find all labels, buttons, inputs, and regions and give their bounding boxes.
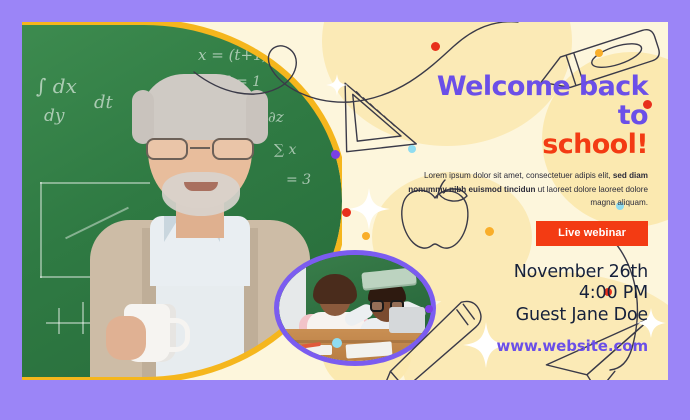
live-webinar-button[interactable]: Live webinar (536, 221, 648, 246)
back-to-school-banner: ∫ dx dy dt x = (t+1) y² = 1 ∂z ∑ x = 3 (0, 0, 690, 420)
event-guest: Guest Jane Doe (400, 305, 648, 327)
chalk-equation-1: ∫ dx (36, 74, 77, 98)
decorative-dot-red (431, 42, 440, 51)
cta-row: Live webinar (400, 221, 648, 246)
event-date: November 26th (400, 262, 648, 284)
event-details: November 26th 4:00 PM Guest Jane Doe (400, 262, 648, 327)
chalk-equation-4: x = (t+1) (198, 46, 268, 64)
decorative-dot-red (342, 208, 351, 217)
sparkle-star-icon (348, 188, 390, 235)
decorative-dot-orange (595, 49, 603, 57)
decorative-dot-orange (362, 232, 370, 240)
body-text-part1: Lorem ipsum dolor sit amet, consectetuer… (424, 171, 613, 180)
body-text: Lorem ipsum dolor sit amet, consectetuer… (400, 169, 648, 208)
teacher-glasses (144, 138, 256, 160)
banner-content: Welcome back to school! Lorem ipsum dolo… (400, 72, 648, 355)
headline-line-2: school! (400, 130, 648, 159)
body-text-part2: ut laoreet dolore laoreet dolore magna a… (536, 185, 649, 207)
headline-line-1: Welcome back to (437, 71, 648, 131)
page-title: Welcome back to school! (400, 72, 648, 159)
banner-canvas: ∫ dx dy dt x = (t+1) y² = 1 ∂z ∑ x = 3 (22, 22, 668, 380)
chalk-equation-2: dy (44, 106, 65, 126)
website-link[interactable]: www.website.com (400, 337, 648, 355)
event-time: 4:00 PM (400, 283, 648, 305)
